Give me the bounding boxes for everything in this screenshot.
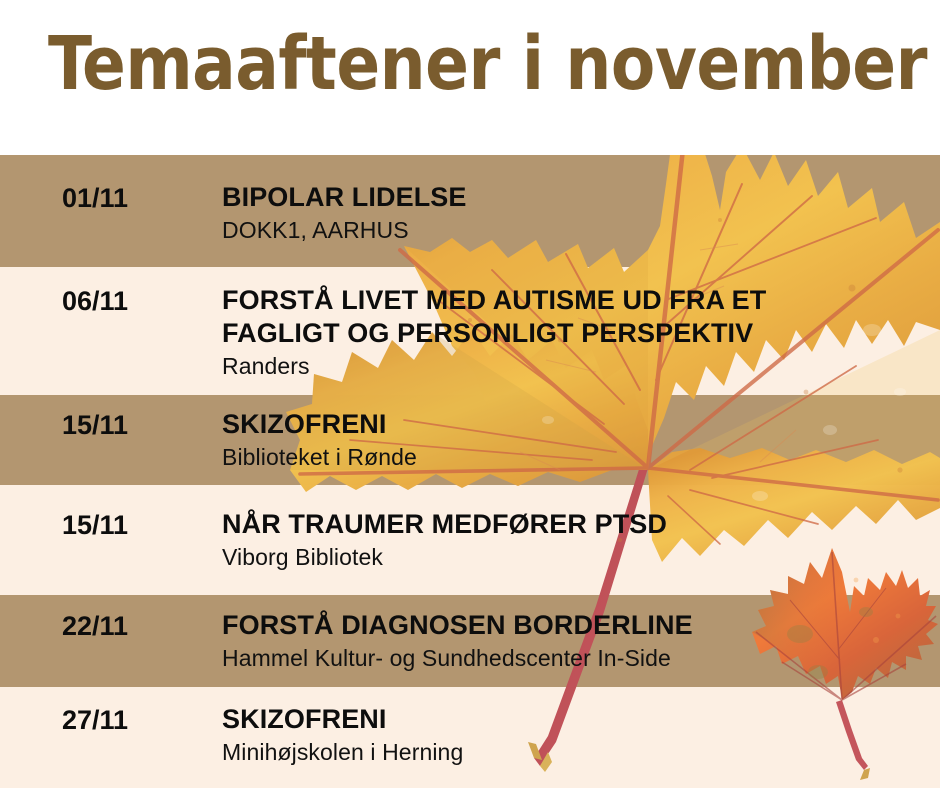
list-item: 15/11 NÅR TRAUMER MEDFØRER PTSD Viborg B… bbox=[0, 485, 940, 595]
event-body: SKIZOFRENI Biblioteket i Rønde bbox=[222, 408, 922, 472]
event-venue: Minihøjskolen i Herning bbox=[222, 738, 922, 767]
event-body: FORSTÅ LIVET MED AUTISME UD FRA ET FAGLI… bbox=[222, 284, 922, 381]
event-venue: Hammel Kultur- og Sundhedscenter In-Side bbox=[222, 644, 922, 673]
list-item: 22/11 FORSTÅ DIAGNOSEN BORDERLINE Hammel… bbox=[0, 595, 940, 687]
event-date: 15/11 bbox=[62, 410, 128, 441]
event-title: FORSTÅ DIAGNOSEN BORDERLINE bbox=[222, 609, 922, 642]
title-area: Temaaftener i november bbox=[0, 0, 940, 155]
list-item: 27/11 SKIZOFRENI Minihøjskolen i Herning bbox=[0, 687, 940, 788]
poster-canvas: Temaaftener i november 01/11 BIPOLAR LID… bbox=[0, 0, 940, 788]
event-venue: DOKK1, AARHUS bbox=[222, 216, 922, 245]
event-body: NÅR TRAUMER MEDFØRER PTSD Viborg Bibliot… bbox=[222, 508, 922, 572]
event-venue: Viborg Bibliotek bbox=[222, 543, 922, 572]
event-title: BIPOLAR LIDELSE bbox=[222, 181, 922, 214]
list-item: 15/11 SKIZOFRENI Biblioteket i Rønde bbox=[0, 395, 940, 485]
list-item: 01/11 BIPOLAR LIDELSE DOKK1, AARHUS bbox=[0, 155, 940, 267]
list-item: 06/11 FORSTÅ LIVET MED AUTISME UD FRA ET… bbox=[0, 267, 940, 395]
page-title: Temaaftener i november bbox=[48, 27, 927, 101]
event-title: SKIZOFRENI bbox=[222, 703, 922, 736]
event-body: FORSTÅ DIAGNOSEN BORDERLINE Hammel Kultu… bbox=[222, 609, 922, 673]
event-date: 22/11 bbox=[62, 611, 128, 642]
event-body: BIPOLAR LIDELSE DOKK1, AARHUS bbox=[222, 181, 922, 245]
event-venue: Randers bbox=[222, 352, 922, 381]
event-title: FORSTÅ LIVET MED AUTISME UD FRA ET FAGLI… bbox=[222, 284, 922, 350]
event-title: NÅR TRAUMER MEDFØRER PTSD bbox=[222, 508, 922, 541]
event-date: 06/11 bbox=[62, 286, 128, 317]
event-title: SKIZOFRENI bbox=[222, 408, 922, 441]
event-venue: Biblioteket i Rønde bbox=[222, 443, 922, 472]
event-date: 01/11 bbox=[62, 183, 128, 214]
event-body: SKIZOFRENI Minihøjskolen i Herning bbox=[222, 703, 922, 767]
event-date: 27/11 bbox=[62, 705, 128, 736]
event-date: 15/11 bbox=[62, 510, 128, 541]
